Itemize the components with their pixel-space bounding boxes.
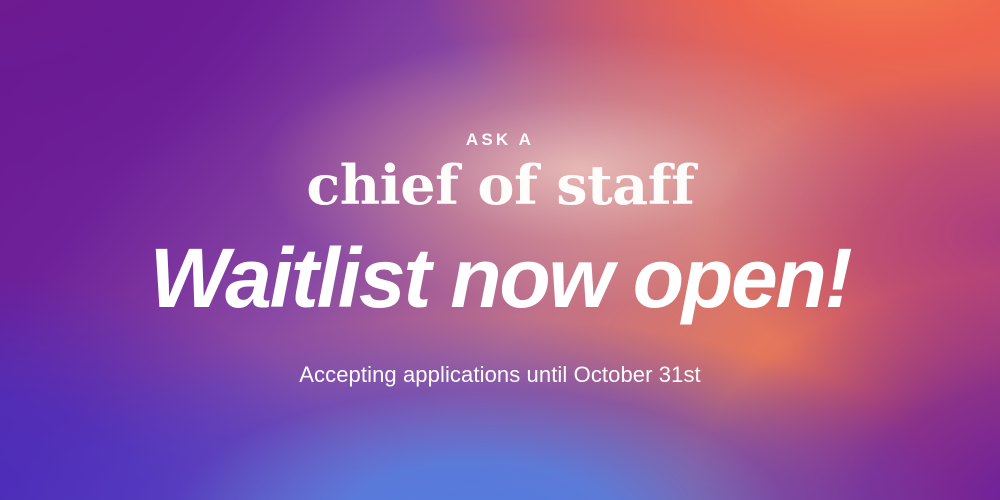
- waitlist-promo-banner: ASK A chief of staff Waitlist now open! …: [0, 0, 1000, 500]
- banner-text-stack: ASK A chief of staff Waitlist now open! …: [0, 0, 1000, 500]
- brand-logotype: chief of staff: [306, 158, 694, 212]
- subtitle-text: Accepting applications until October 31s…: [299, 362, 701, 388]
- eyebrow-label: ASK A: [466, 131, 534, 148]
- headline-text: Waitlist now open!: [150, 236, 851, 320]
